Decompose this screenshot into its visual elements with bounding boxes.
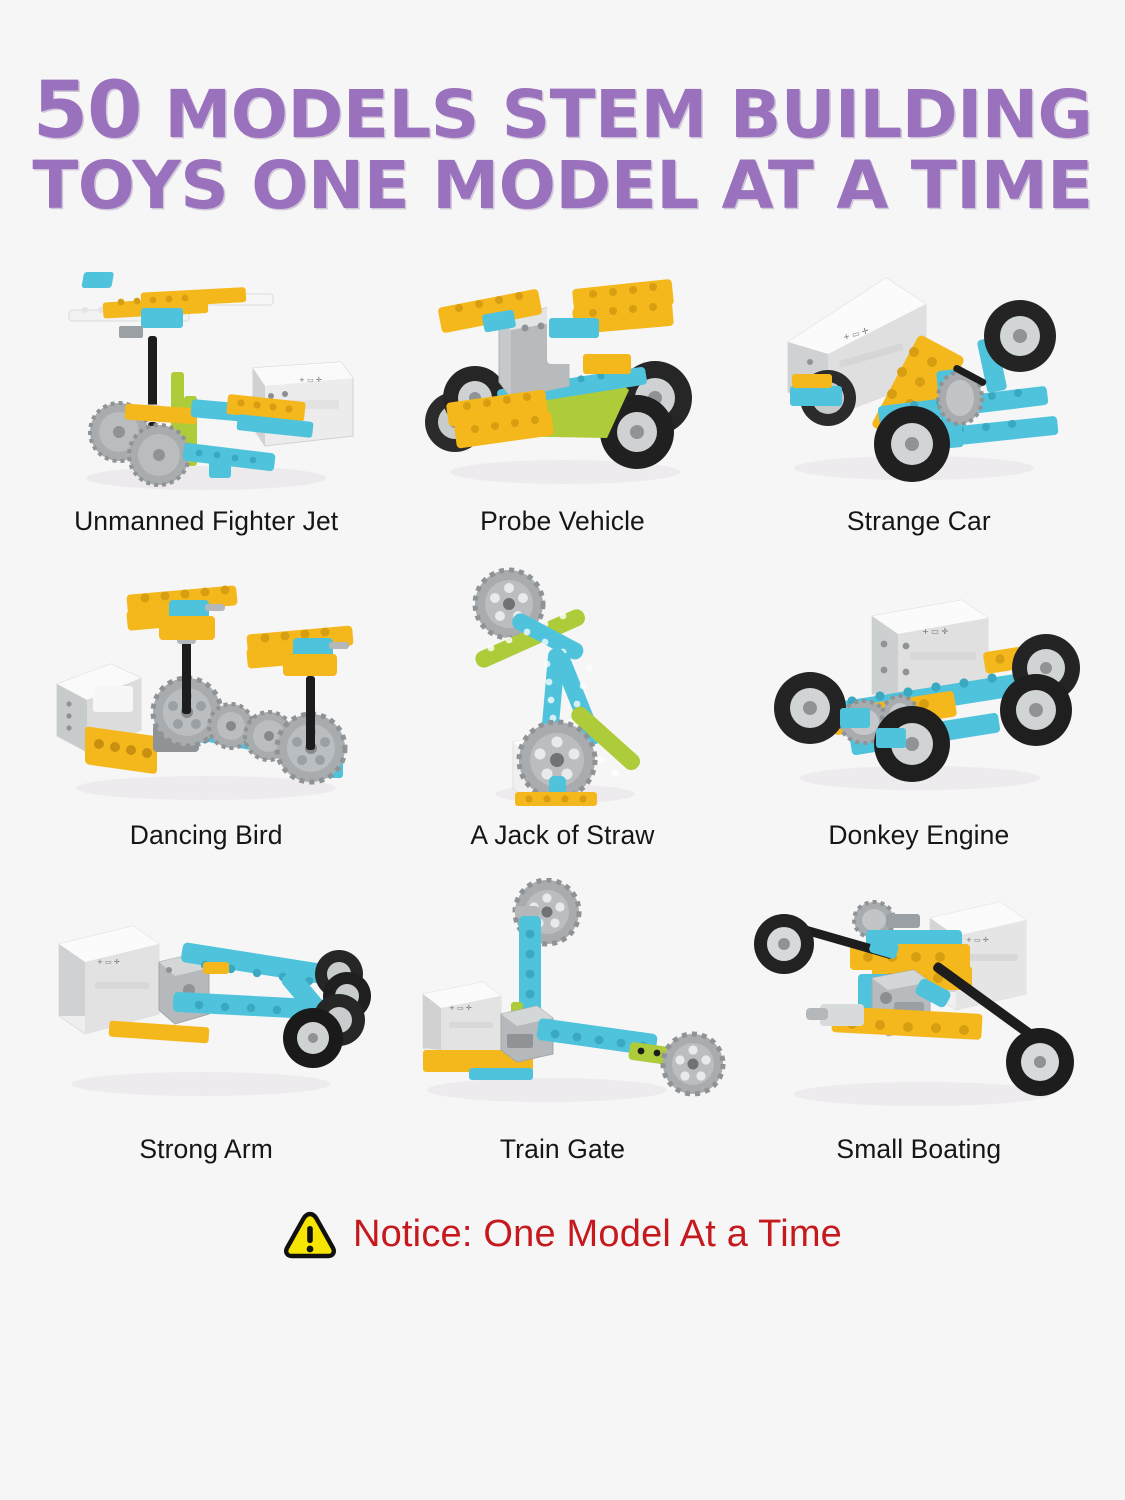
- model-image-strange-car: + ▭ ✛: [754, 250, 1084, 500]
- model-label: Probe Vehicle: [480, 506, 645, 537]
- svg-text:+ ▭ ✛: + ▭ ✛: [97, 958, 120, 966]
- model-label: Strange Car: [847, 506, 991, 537]
- model-image-probe-vehicle: [397, 250, 727, 500]
- model-card-donkey-engine: + ▭ ✛: [741, 564, 1097, 874]
- warning-triangle-icon: [283, 1210, 337, 1260]
- page-title-line-1: 50 Models STEM Building: [0, 74, 1125, 150]
- model-label: Donkey Engine: [828, 820, 1009, 851]
- model-label: Train Gate: [500, 1134, 625, 1165]
- model-image-strong-arm: + ▭ ✛: [41, 878, 371, 1128]
- svg-text:+ ▭ ✛: + ▭ ✛: [449, 1004, 472, 1012]
- model-label: Dancing Bird: [130, 820, 283, 851]
- product-infographic: 50 Models STEM Building Toys One Model A…: [0, 0, 1125, 1500]
- model-card-unmanned-fighter-jet: + ▭ ✛: [28, 250, 384, 560]
- model-card-small-boating: + ▭ ✛: [741, 878, 1097, 1188]
- model-card-probe-vehicle: Probe Vehicle: [384, 250, 740, 560]
- model-label: Strong Arm: [139, 1134, 273, 1165]
- svg-text:+ ▭ ✛: + ▭ ✛: [922, 627, 948, 636]
- page-title-line-1-rest: Models STEM Building: [164, 76, 1092, 153]
- model-image-donkey-engine: + ▭ ✛: [754, 564, 1084, 814]
- notice-bar: Notice: One Model At a Time: [0, 1210, 1125, 1260]
- page-title-line-2: Toys One Model At a Time: [0, 154, 1125, 218]
- model-image-a-jack-of-straw: [397, 564, 727, 814]
- svg-text:+ ▭ ✛: + ▭ ✛: [966, 936, 989, 944]
- notice-text: Notice: One Model At a Time: [353, 1213, 842, 1256]
- model-card-a-jack-of-straw: A Jack of Straw: [384, 564, 740, 874]
- svg-text:+ ▭ ✛: + ▭ ✛: [299, 376, 322, 384]
- model-card-strong-arm: + ▭ ✛: [28, 878, 384, 1188]
- page-title: 50 Models STEM Building Toys One Model A…: [0, 0, 1125, 218]
- model-image-unmanned-fighter-jet: + ▭ ✛: [41, 250, 371, 500]
- model-card-strange-car: + ▭ ✛: [741, 250, 1097, 560]
- model-grid: + ▭ ✛: [0, 250, 1125, 1188]
- model-card-dancing-bird: Dancing Bird: [28, 564, 384, 874]
- model-image-train-gate: + ▭ ✛: [397, 878, 727, 1128]
- model-label: Unmanned Fighter Jet: [74, 506, 338, 537]
- model-label: A Jack of Straw: [470, 820, 654, 851]
- model-label: Small Boating: [836, 1134, 1001, 1165]
- model-card-train-gate: + ▭ ✛: [384, 878, 740, 1188]
- model-image-small-boating: + ▭ ✛: [754, 878, 1084, 1128]
- model-image-dancing-bird: [41, 564, 371, 814]
- model-count: 50: [33, 66, 142, 156]
